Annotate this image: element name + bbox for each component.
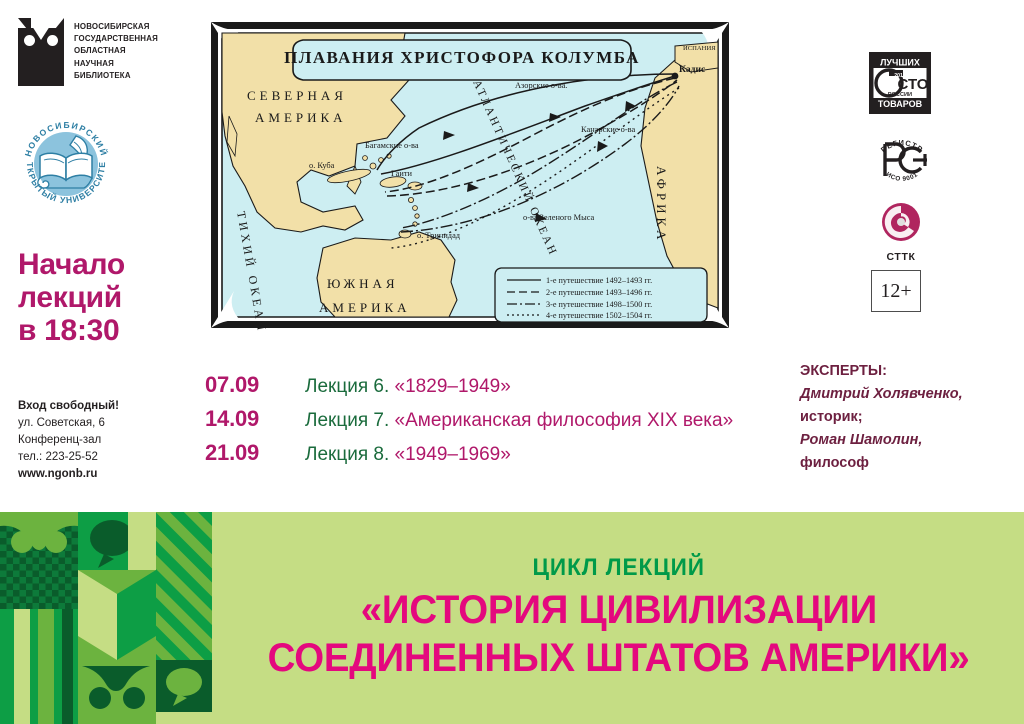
badge-line-goods: ТОВАРОВ (878, 99, 923, 109)
lecture-number-label: Лекция 8. (305, 444, 389, 465)
start-line-2: лекций (18, 281, 188, 314)
map-label-canary: Канарские о-ва (581, 125, 635, 134)
start-time-block: Начало лекций в 18:30 (18, 248, 188, 347)
library-name-line: БИБЛИОТЕКА (74, 69, 179, 81)
map-legend: 1-е путешествие 1492–1493 гг. 2-е путеше… (495, 268, 707, 322)
lecture-row[interactable]: 14.09 Лекция 7. «Американская философия … (205, 406, 785, 440)
library-name-line: ГОСУДАРСТВЕННАЯ (74, 32, 179, 44)
library-name-line: НАУЧНАЯ (74, 57, 179, 69)
left-column: НОВОСИБИРСКАЯ ГОСУДАРСТВЕННАЯ ОБЛАСТНАЯ … (0, 0, 200, 512)
certification-badges: ЛУЧШИХ ТОВАРОВ СТО РОССИИ 2014 (855, 52, 975, 302)
map-label-bahamas: Багамские о-ва (365, 141, 419, 150)
lecture-title: «1949–1969» (395, 444, 511, 465)
venue-label: Конференц-зал (18, 432, 190, 449)
expert-profession: историк; (800, 406, 1015, 429)
phone-label: тел.: 223-25-52 (18, 449, 190, 466)
map-label-north-america-2: АМЕРИКА (255, 110, 347, 125)
badge-line-best: ЛУЧШИХ (880, 58, 920, 68)
map-label-south-america-3: АМЕРИКА (319, 300, 411, 315)
age-rating-icon: 12+ (871, 270, 921, 312)
sttk-label: СТТК (875, 251, 927, 263)
bottom-banner: ЦИКЛ ЛЕКЦИЙ «ИСТОРИЯ ЦИВИЛИЗАЦИИ СОЕДИНЕ… (0, 512, 1024, 724)
columbus-voyages-map: ПЛАВАНИЯ ХРИСТОФОРА КОЛУМБА СЕВЕРНАЯ АМЕ… (205, 16, 735, 334)
sttk-spiral-icon (879, 202, 923, 244)
decorative-pattern (0, 512, 212, 724)
lecture-date: 14.09 (205, 406, 305, 432)
address-label: ул. Советская, 6 (18, 415, 190, 432)
map-legend-item: 1-е путешествие 1492–1493 гг. (546, 276, 652, 285)
experts-heading: ЭКСПЕРТЫ: (800, 360, 1015, 383)
badge-register-bottom: ИСО 9001 (885, 171, 920, 183)
contacts-block: Вход свободный! ул. Советская, 6 Конфере… (18, 398, 190, 483)
map-label-cuba: о. Куба (309, 161, 335, 170)
lecture-text: Лекция 7. «Американская философия XIX ве… (305, 410, 733, 432)
lecture-list: 07.09 Лекция 6. «1829–1949» 14.09 Лекция… (205, 372, 785, 474)
age-rating-label: 12+ (880, 280, 911, 303)
lecture-number-label: Лекция 6. (305, 376, 389, 397)
badge-line-russia: РОССИИ (888, 92, 912, 98)
banner-kicker: ЦИКЛ ЛЕКЦИЙ (533, 554, 705, 582)
banner-text-block: ЦИКЛ ЛЕКЦИЙ «ИСТОРИЯ ЦИВИЛИЗАЦИИ СОЕДИНЕ… (214, 512, 1024, 724)
map-label-haiti: Гаити (391, 169, 412, 178)
library-logo: НОВОСИБИРСКАЯ ГОСУДАРСТВЕННАЯ ОБЛАСТНАЯ … (18, 18, 188, 90)
map-label-cape-verde: о-ва Зеленого Мыса (523, 213, 595, 222)
badge-line-year: 2014 (894, 73, 906, 79)
lecture-date: 07.09 (205, 372, 305, 398)
map-legend-item: 3-е путешествие 1498–1500 гг. (546, 300, 652, 309)
expert-name: Дмитрий Холявченко, (800, 383, 1015, 406)
lecture-text: Лекция 6. «1829–1949» (305, 376, 511, 398)
lecture-number-label: Лекция 7. (305, 410, 389, 431)
map-label-trinidad: о. Тринидад (417, 231, 461, 240)
lecture-title: «Американская философия XIX века» (395, 410, 734, 431)
hundred-best-goods-icon: ЛУЧШИХ ТОВАРОВ СТО РОССИИ 2014 (869, 52, 931, 114)
lecture-title: «1829–1949» (395, 376, 511, 397)
map-legend-item: 4-е путешествие 1502–1504 гг. (546, 311, 652, 320)
library-name: НОВОСИБИРСКАЯ ГОСУДАРСТВЕННАЯ ОБЛАСТНАЯ … (74, 20, 179, 81)
map-title-cartouche: ПЛАВАНИЯ ХРИСТОФОРА КОЛУМБА (284, 40, 640, 80)
open-book-quill-icon: НОВОСИБИРСКИЙ ОТКРЫТЫЙ УНИВЕРСИТЕТ (14, 112, 118, 216)
expert-profession: философ (800, 452, 1015, 475)
map-label-north-america-1: СЕВЕРНАЯ (247, 88, 347, 103)
gost-r-register-icon: РЕГИСТР ИСО 9001 (869, 130, 935, 186)
map-label-south-america-1: ЮЖНАЯ (327, 276, 399, 291)
map-label-africa: АФРИКА (654, 166, 669, 244)
lecture-row[interactable]: 21.09 Лекция 8. «1949–1969» (205, 440, 785, 474)
sttk-badge: СТТК (875, 202, 927, 262)
map-title: ПЛАВАНИЯ ХРИСТОФОРА КОЛУМБА (284, 48, 640, 67)
banner-title-line-1: «ИСТОРИЯ ЦИВИЛИЗАЦИИ (361, 586, 877, 634)
svg-text:ИСО 9001: ИСО 9001 (885, 171, 920, 183)
map-label-spain: ИСПАНИЯ (683, 45, 716, 52)
start-line-1: Начало (18, 248, 188, 281)
start-line-3: в 18:30 (18, 314, 188, 347)
map-label-cadiz: Кадис (679, 64, 706, 75)
poster-root: НОВОСИБИРСКАЯ ГОСУДАРСТВЕННАЯ ОБЛАСТНАЯ … (0, 0, 1024, 724)
website-link[interactable]: www.ngonb.ru (18, 466, 190, 483)
lecture-text: Лекция 8. «1949–1969» (305, 444, 511, 466)
expert-name: Роман Шамолин, (800, 429, 1015, 452)
map-label-azores: Азорские о-ва. (515, 81, 567, 90)
banner-title-line-2: СОЕДИНЕННЫХ ШТАТОВ АМЕРИКИ» (268, 634, 970, 682)
map-legend-item: 2-е путешествие 1493–1496 гг. (546, 288, 652, 297)
owl-icon (18, 18, 64, 86)
lecture-date: 21.09 (205, 440, 305, 466)
library-name-line: ОБЛАСТНАЯ (74, 44, 179, 56)
free-entry-label: Вход свободный! (18, 398, 190, 415)
experts-block: ЭКСПЕРТЫ: Дмитрий Холявченко, историк; Р… (800, 360, 1015, 475)
lecture-row[interactable]: 07.09 Лекция 6. «1829–1949» (205, 372, 785, 406)
library-name-line: НОВОСИБИРСКАЯ (74, 20, 179, 32)
